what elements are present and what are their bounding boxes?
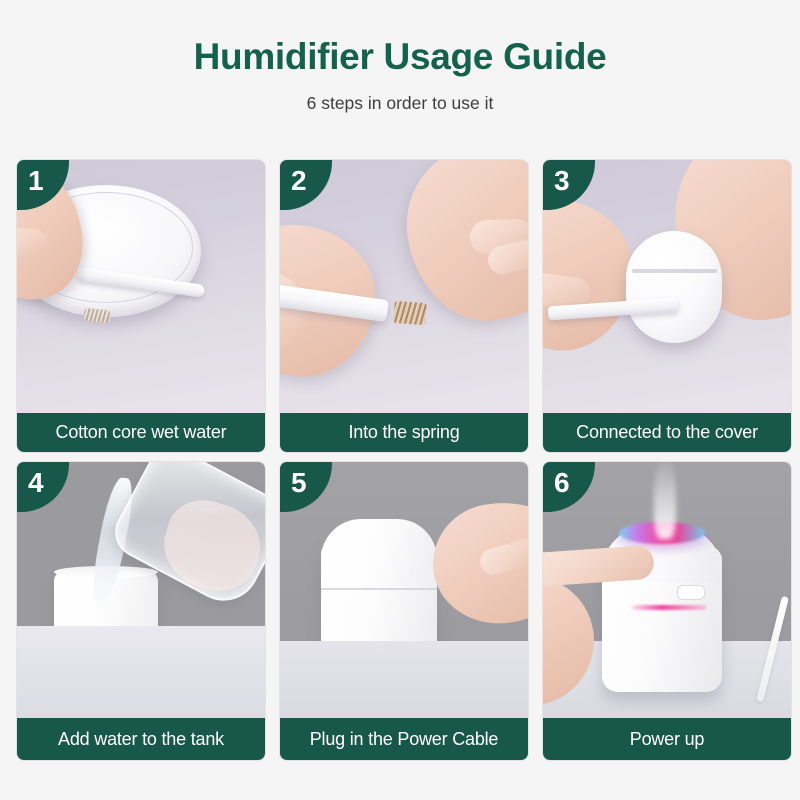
page-title: Humidifier Usage Guide	[0, 36, 800, 79]
step-caption-2: Into the spring	[280, 413, 528, 452]
mist-plume	[654, 462, 676, 539]
scene-backdrop-lavender	[17, 160, 265, 413]
step-photo-6: 6	[543, 462, 791, 718]
finger	[476, 534, 528, 578]
step-photo-2: 2	[280, 160, 528, 413]
step-panel-4[interactable]: H₂O 4 Add water to the tank	[17, 462, 265, 760]
spring-coil	[83, 308, 110, 324]
step-caption-5: Plug in the Power Cable	[280, 718, 528, 760]
humidifier-cap	[321, 519, 437, 585]
hand	[427, 496, 528, 630]
usage-guide-page: Humidifier Usage Guide 6 steps in order …	[0, 0, 800, 800]
led-pink-line	[632, 605, 706, 610]
cover-seam	[632, 269, 717, 273]
scene-backdrop-grey	[543, 462, 791, 718]
power-cord	[756, 595, 789, 701]
spring-coil	[393, 301, 426, 325]
page-subtitle: 6 steps in order to use it	[0, 93, 800, 114]
header: Humidifier Usage Guide 6 steps in order …	[0, 0, 800, 114]
scene-backdrop-lavender	[543, 160, 791, 413]
step-panel-6[interactable]: 6 Power up	[543, 462, 791, 760]
step-panel-1[interactable]: 1 Cotton core wet water	[17, 160, 265, 452]
tank-h2o-label: H₂O	[54, 656, 158, 668]
step-photo-5: 5	[280, 462, 528, 718]
step-panel-2[interactable]: 2 Into the spring	[280, 160, 528, 452]
power-button[interactable]	[677, 585, 705, 600]
step-caption-6: Power up	[543, 718, 791, 760]
steps-grid: 1 Cotton core wet water 2	[17, 160, 790, 760]
finger	[17, 227, 49, 259]
hand	[543, 570, 598, 709]
body-seam	[321, 588, 437, 590]
scene-backdrop-grey	[280, 462, 528, 718]
step-panel-3[interactable]: 3 Connected to the cover	[543, 160, 791, 452]
step-caption-4: Add water to the tank	[17, 718, 265, 760]
humidifier-cover	[626, 231, 722, 343]
scene-backdrop-grey: H₂O	[17, 462, 265, 718]
step-photo-3: 3	[543, 160, 791, 413]
step-caption-3: Connected to the cover	[543, 413, 791, 452]
step-panel-5[interactable]: 5 Plug in the Power Cable	[280, 462, 528, 760]
scene-backdrop-lavender	[280, 160, 528, 413]
step-caption-1: Cotton core wet water	[17, 413, 265, 452]
step-photo-1: 1	[17, 160, 265, 413]
step-photo-4: H₂O 4	[17, 462, 265, 718]
